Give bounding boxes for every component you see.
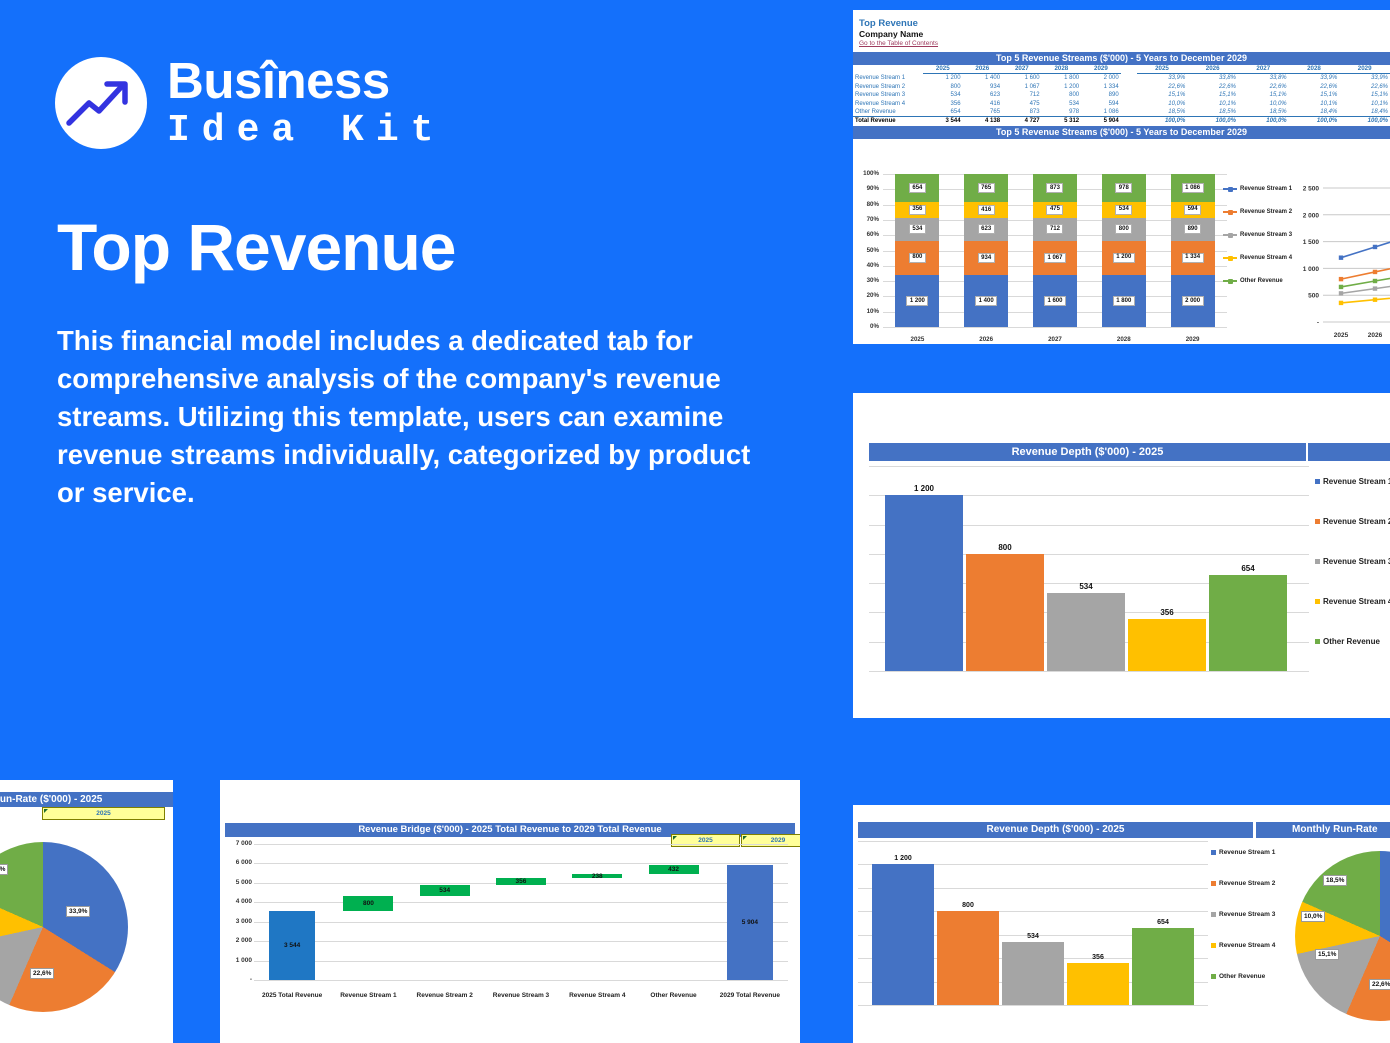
bridge-bar-column[interactable]: 5 904 [712,844,788,980]
svg-text:2 000: 2 000 [1303,212,1320,219]
axis-tick: 80% [859,201,879,208]
axis-tick: 2025 [895,336,939,343]
pie-slice-label: 10,0% [1301,911,1325,922]
run-rate-pie-right: 33,9%22,6%15,1%10,0%18,5% [1295,851,1390,1021]
bar-value-label: 1 400 [975,296,997,306]
axis-tick: 2026 [964,336,1008,343]
bar-value-label: 890 [1184,224,1201,234]
bar-value-label: 5 904 [742,919,758,926]
svg-text:500: 500 [1308,293,1319,300]
bar-column[interactable]: 800 [966,466,1044,681]
table-row: Revenue Stream 11 2001 4001 6001 8002 00… [853,74,1390,83]
bar-value-label: 356 [1128,608,1206,617]
axis-tick: Revenue Stream 1 [330,992,406,999]
revenue-depth-panel: Revenue Depth ($'000) - 2025 1 200800534… [853,393,1390,718]
bar-value-label: 475 [1046,205,1063,215]
revenue-depth-small-title: Revenue Depth ($'000) - 2025 [858,822,1253,838]
brand-name-primary: Busîness [167,55,445,106]
legend-swatch [1315,639,1320,644]
axis-tick: 2029 [1171,336,1215,343]
axis-tick: 2028 [1102,336,1146,343]
legend-swatch [1315,479,1320,484]
bar-value-label: 534 [1115,205,1132,215]
bar-column[interactable]: 356 [1128,466,1206,681]
legend-swatch [1211,974,1216,979]
bar-value-label: 416 [978,205,995,215]
table-of-contents-link[interactable]: Go to the Table of Contents [859,39,1390,48]
bar-value-label: 765 [978,183,995,193]
legend-swatch [1211,881,1216,886]
run-rate-pie-left: 33,9%22,6%15,1%10,0%18,5% [0,842,128,1012]
bar-value-label: 978 [1115,183,1132,193]
bridge-bar-column[interactable]: 356 [483,844,559,980]
bar-value-label: 1 800 [1113,296,1135,306]
bar-value-label: 534 [439,887,450,894]
bar-value-label: 534 [1047,582,1125,591]
bridge-bar-column[interactable]: 238 [559,844,635,980]
bar-value-label: 238 [592,873,603,880]
revenue-depth-title: Revenue Depth ($'000) - 2025 [869,443,1306,461]
legend-label: Revenue Stream 4 [1219,942,1275,949]
stacked-bar-chart: 0%10%20%30%40%50%60%70%80%90%100% 654356… [859,170,1229,344]
bar-value-label: 594 [1184,205,1201,215]
bridge-bar-column[interactable]: 800 [330,844,406,980]
legend-item[interactable]: Revenue Stream 4 [1211,942,1275,949]
bar-value-label: 1 200 [906,296,928,306]
legend-swatch [1315,599,1320,604]
bar-value-label: 800 [909,253,926,263]
table-row: Revenue Stream 353462371280089015,1%15,1… [853,91,1390,99]
run-rate-right-title: Monthly Run-Rate ($'000 [1256,822,1390,838]
axis-tick: 90% [859,185,879,192]
axis-tick: Revenue Stream 4 [559,992,635,999]
bar-value-label: 2 000 [1182,296,1204,306]
axis-tick: 1 000 [226,957,252,964]
legend-label: Other Revenue [1219,973,1265,980]
bridge-bar-column[interactable]: 432 [635,844,711,980]
spreadsheet-panel-top: Top Revenue Company Name Go to the Table… [853,10,1390,344]
axis-tick: 30% [859,277,879,284]
svg-text:2025: 2025 [1334,332,1349,339]
legend-item[interactable]: Revenue Stream 3 [1315,557,1390,566]
legend-item[interactable]: Other Revenue [1211,973,1275,980]
bar-column[interactable]: 356 [1067,841,1129,1013]
axis-tick: Revenue Stream 3 [483,992,559,999]
axis-tick: 60% [859,231,879,238]
bridge-bars: 3 5448005343562384325 904 [254,844,788,980]
bar-value-label: 1 334 [1182,253,1204,263]
sheet-header: Top Revenue Company Name Go to the Table… [853,10,1390,48]
legend-item[interactable]: Revenue Stream 2 [1211,880,1275,887]
revenue-depth-plot: 1 200800534356654 [869,466,1309,681]
table-row: Revenue Stream 435641647553459410,0%10,1… [853,100,1390,108]
bar-column[interactable]: 6543565348001 200 [895,174,939,327]
stacked-chart-bars: 6543565348001 2007654166239341 400873475… [883,174,1227,327]
legend-label: Revenue Stream 1 [1323,477,1390,486]
axis-tick: 10% [859,308,879,315]
revenue-depth-legend: Revenue Stream 1Revenue Stream 2Revenue … [1315,477,1390,646]
axis-tick: Other Revenue [635,992,711,999]
revenue-depth-small-plot: 1 200800534356654 [858,841,1208,1013]
table-title-band: Top 5 Revenue Streams ($'000) - 5 Years … [853,52,1390,65]
bar-column[interactable]: 800 [937,841,999,1013]
pie-slice-label: 22,6% [1369,979,1390,990]
revenue-streams-table: 2025202620272028202920252026202720282029… [853,65,1390,126]
pie-slice-label: 18,5% [1323,875,1347,886]
axis-tick: 40% [859,262,879,269]
pie-slice-label: 18,5% [0,864,8,875]
pie-slice-label: 33,9% [66,906,90,917]
pie-slice-label: 22,6% [30,968,54,979]
table-row: Revenue Stream 28009341 0671 2001 33422,… [853,83,1390,91]
legend-label: Revenue Stream 2 [1323,517,1390,526]
legend-swatch [1315,559,1320,564]
legend-label: Revenue Stream 3 [1219,911,1275,918]
bar-value-label: 1 200 [885,484,963,493]
legend-item[interactable]: Revenue Stream 1 [1315,477,1390,486]
bar-value-label: 800 [1115,224,1132,234]
bar-column[interactable]: 654 [1132,841,1194,1013]
revenue-depth-title-overflow [1308,443,1390,461]
legend-swatch [1211,850,1216,855]
revenue-depth-bars: 1 200800534356654 [885,466,1301,681]
legend-item[interactable]: Revenue Stream 3 [1211,911,1275,918]
axis-tick: 7 000 [226,840,252,847]
bridge-x-axis: 2025 Total RevenueRevenue Stream 1Revenu… [254,992,788,999]
legend-swatch [1211,912,1216,917]
bar-value-label: 1 086 [1182,183,1204,193]
brand-logo: Busîness Idea Kit [55,55,445,150]
axis-tick: 2027 [1033,336,1077,343]
axis-tick: 2029 Total Revenue [712,992,788,999]
bar-value-label: 1 600 [1044,296,1066,306]
chart-title-band: Top 5 Revenue Streams ($'000) - 5 Years … [853,126,1390,139]
stacked-chart-plot: 6543565348001 2007654166239341 400873475… [883,174,1227,327]
axis-tick: Revenue Stream 2 [407,992,483,999]
bar-value-label: 800 [363,900,374,907]
axis-tick: 50% [859,247,879,254]
legend-item[interactable]: Revenue Stream 1 [1211,849,1275,856]
bar-value-label: 534 [1002,933,1064,940]
bar-value-label: 356 [516,878,527,885]
legend-label: Revenue Stream 2 [1219,880,1275,887]
legend-label: Revenue Stream 4 [1323,597,1390,606]
year-selector-left[interactable]: 2025 [42,807,165,820]
bar-value-label: 1 200 [872,855,934,862]
hero-description: This financial model includes a dedicate… [57,322,757,512]
monthly-run-rate-panel-left: Run-Rate ($'000) - 2025 2025 33,9%22,6%1… [0,780,173,1043]
bar-value-label: 712 [1046,224,1063,234]
svg-text:2 500: 2 500 [1303,186,1320,193]
sheet-company-name: Company Name [859,29,1390,39]
bar-column[interactable]: 7654166239341 400 [964,174,1008,327]
hero-section: Busîness Idea Kit Top Revenue This finan… [0,0,820,780]
bar-column[interactable]: 9785348001 2001 800 [1102,174,1146,327]
axis-tick: 70% [859,216,879,223]
bar-value-label: 1 200 [1113,253,1135,263]
legend-swatch [1315,519,1320,524]
bar-value-label: 356 [1067,954,1129,961]
legend-swatch [1211,943,1216,948]
trend-line-chart: Revenue Stream 1Revenue Stream 2Revenue … [1223,170,1390,344]
revenue-bridge-panel: Revenue Bridge ($'000) - 2025 Total Reve… [220,780,800,1043]
bridge-bar-column[interactable]: 534 [407,844,483,980]
legend-item[interactable]: Other Revenue [1315,637,1390,646]
bar-value-label: 356 [909,205,926,215]
legend-label: Revenue Stream 1 [1219,849,1275,856]
legend-label: Other Revenue [1323,637,1380,646]
trend-chart-plot: -5001 0001 5002 0002 50020252026 [1223,170,1390,344]
bar-column[interactable]: 534 [1002,841,1064,1013]
svg-text:-: - [1317,320,1319,327]
axis-tick: 3 000 [226,918,252,925]
bar-column[interactable]: 1 200 [885,466,963,681]
bar-value-label: 800 [966,543,1044,552]
legend-item[interactable]: Revenue Stream 2 [1315,517,1390,526]
bar-value-label: 873 [1046,183,1063,193]
svg-text:1 500: 1 500 [1303,239,1320,246]
axis-tick: 100% [859,170,879,177]
bar-value-label: 654 [1209,564,1287,573]
axis-tick: 20% [859,292,879,299]
table-row: Other Revenue6547658739781 08618,5%18,5%… [853,108,1390,117]
bar-value-label: 1 067 [1044,253,1066,263]
axis-tick: 5 000 [226,879,252,886]
pie-slices[interactable] [0,842,128,1012]
svg-text:1 000: 1 000 [1303,266,1320,273]
svg-text:2026: 2026 [1368,332,1383,339]
revenue-depth-small-bars: 1 200800534356654 [872,841,1202,1013]
bar-value-label: 800 [937,902,999,909]
revenue-depth-small-legend: Revenue Stream 1Revenue Stream 2Revenue … [1211,849,1275,980]
bar-value-label: 534 [909,224,926,234]
bar-value-label: 3 544 [284,942,300,949]
bar-value-label: 432 [668,866,679,873]
bar-value-label: 934 [978,253,995,263]
bar-column[interactable]: 1 200 [872,841,934,1013]
axis-tick: 4 000 [226,898,252,905]
axis-tick: - [226,976,252,983]
page-title: Top Revenue [57,209,456,285]
bar-value-label: 654 [909,183,926,193]
bar-column[interactable]: 1 0865948901 3342 000 [1171,174,1215,327]
bar-column[interactable]: 534 [1047,466,1125,681]
axis-tick: 2025 Total Revenue [254,992,330,999]
sheet-tab-title: Top Revenue [859,18,1390,29]
legend-item[interactable]: Revenue Stream 4 [1315,597,1390,606]
revenue-bridge-plot: -1 0002 0003 0004 0005 0006 0007 000 3 5… [226,840,794,1015]
bottom-right-combo-panel: Revenue Depth ($'000) - 2025 Monthly Run… [853,805,1390,1043]
bar-value-label: 654 [1132,919,1194,926]
bridge-bar-column[interactable]: 3 544 [254,844,330,980]
axis-tick: 2 000 [226,937,252,944]
growth-arrow-icon [55,57,147,149]
bar-column[interactable]: 8734757121 0671 600 [1033,174,1077,327]
legend-label: Revenue Stream 3 [1323,557,1390,566]
run-rate-title-left: Run-Rate ($'000) - 2025 [0,792,173,807]
axis-tick: 0% [859,323,879,330]
table-row-total: Total Revenue3 5444 1384 7275 3125 90410… [853,117,1390,126]
bar-column[interactable]: 654 [1209,466,1287,681]
brand-name-secondary: Idea Kit [167,112,445,150]
bar-value-label: 623 [978,224,995,234]
stacked-chart-x-axis: 20252026202720282029 [883,336,1227,343]
pie-slice-label: 15,1% [1315,949,1339,960]
axis-tick: 6 000 [226,859,252,866]
